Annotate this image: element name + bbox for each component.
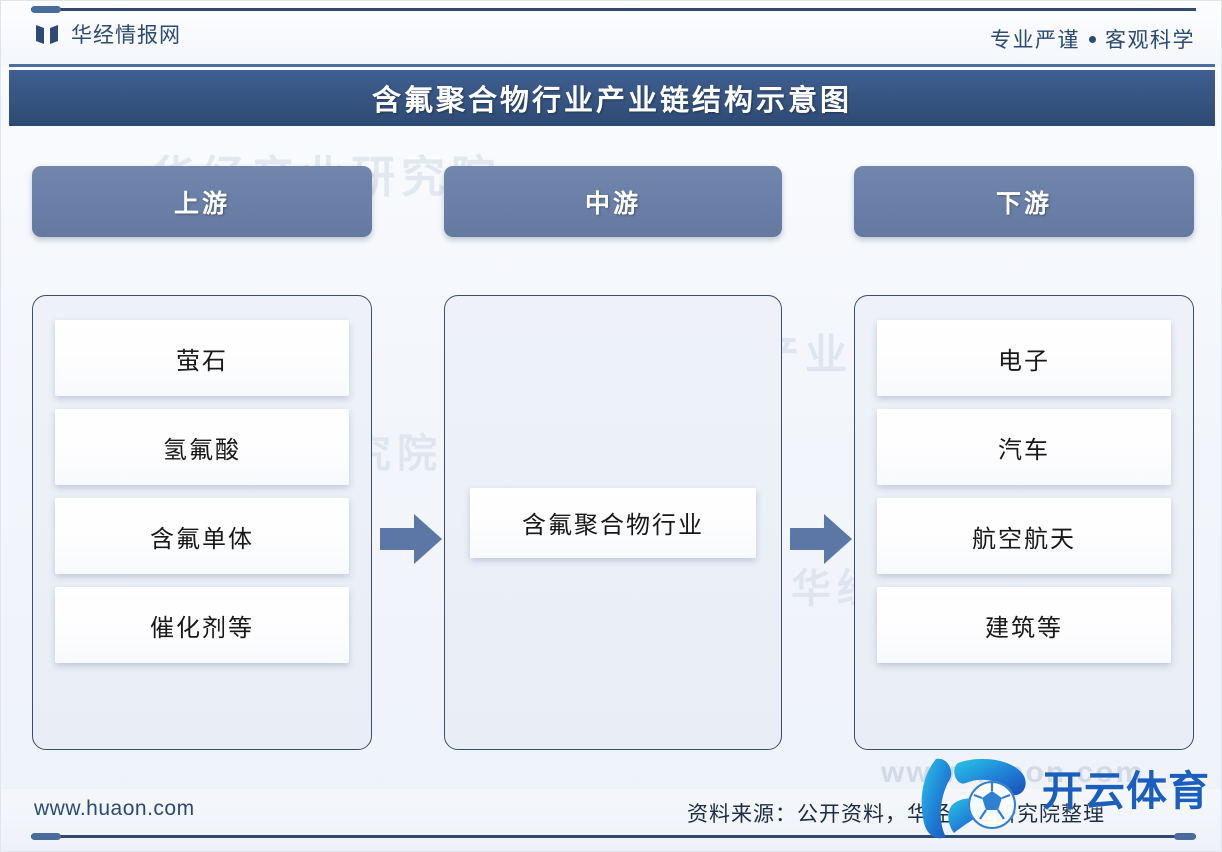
title-banner: 含氟聚合物行业产业链结构示意图 [9,70,1215,126]
column-body-upstream: 萤石 氢氟酸 含氟单体 催化剂等 [32,295,372,750]
node-label: 建筑等 [985,608,1063,643]
node-item[interactable]: 建筑等 [877,587,1171,663]
header-tagline: 专业严谨 客观科学 [990,24,1195,54]
column-downstream: 下游 电子 汽车 航空航天 建筑等 [854,166,1194,750]
node-item[interactable]: 萤石 [55,320,349,396]
book-open-icon [34,23,60,47]
tagline-separator-dot [1089,36,1096,43]
column-body-downstream: 电子 汽车 航空航天 建筑等 [854,295,1194,750]
node-item[interactable]: 汽车 [877,409,1171,485]
node-item[interactable]: 电子 [877,320,1171,396]
brand: 华经情报网 [34,23,181,47]
header-divider-rule [31,8,1196,11]
column-header-label: 中游 [585,184,641,220]
node-item[interactable]: 氢氟酸 [55,409,349,485]
arrow-right-icon [378,510,444,568]
brand-name: 华经情报网 [71,25,181,46]
arrow-right-icon [788,510,854,568]
node-label: 氢氟酸 [163,430,241,465]
page-title: 含氟聚合物行业产业链结构示意图 [372,77,852,119]
tagline-right: 客观科学 [1105,24,1195,54]
column-body-midstream: 含氟聚合物行业 [444,295,782,750]
node-label: 电子 [998,341,1050,376]
column-header-downstream: 下游 [854,166,1194,237]
footer-bar: www.huaon.com 资料来源：公开资料，华经产业研究院整理 [1,789,1222,851]
tagline-left: 专业严谨 [990,24,1080,54]
node-item[interactable]: 催化剂等 [55,587,349,663]
node-label: 含氟单体 [150,519,254,554]
infographic-page: 华经情报网 专业严谨 客观科学 含氟聚合物行业产业链结构示意图 华经产业研究院 … [0,0,1222,852]
industry-chain-diagram: 上游 萤石 氢氟酸 含氟单体 催化剂等 [1,126,1222,791]
column-header-label: 上游 [174,184,230,220]
header-bar: 华经情报网 专业严谨 客观科学 [1,1,1222,67]
column-midstream: 中游 含氟聚合物行业 [444,166,782,750]
footer-website-url[interactable]: www.huaon.com [34,797,195,821]
column-upstream: 上游 萤石 氢氟酸 含氟单体 催化剂等 [32,166,372,750]
footer-source-note: 资料来源：公开资料，华经产业研究院整理 [687,798,1105,828]
node-label: 萤石 [176,341,228,376]
footer-divider-rule [31,835,1196,838]
node-label: 催化剂等 [150,608,254,643]
column-header-label: 下游 [996,184,1052,220]
node-item[interactable]: 含氟单体 [55,498,349,574]
node-item[interactable]: 含氟聚合物行业 [470,488,756,558]
node-label: 汽车 [998,430,1050,465]
column-header-midstream: 中游 [444,166,782,237]
node-label: 含氟聚合物行业 [522,505,704,540]
node-item[interactable]: 航空航天 [877,498,1171,574]
node-label: 航空航天 [972,519,1076,554]
column-header-upstream: 上游 [32,166,372,237]
